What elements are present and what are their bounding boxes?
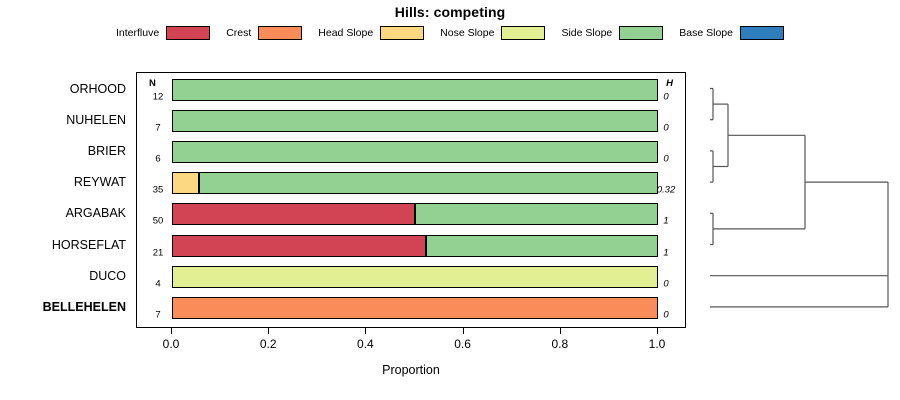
y-axis-label: HORSEFLAT <box>52 238 126 252</box>
x-axis-tick <box>365 328 366 334</box>
legend-swatch <box>619 26 663 40</box>
n-value: 6 <box>147 153 169 164</box>
bar-segment[interactable] <box>172 297 658 319</box>
legend-label: Side Slope <box>561 27 612 39</box>
x-axis: 0.00.20.40.60.81.0 <box>136 328 686 329</box>
x-axis-tick-label: 0.8 <box>551 337 568 351</box>
h-column-header: H <box>666 78 673 89</box>
legend-item[interactable]: Base Slope <box>679 26 784 40</box>
bar-segment[interactable] <box>172 203 415 225</box>
legend-swatch <box>740 26 784 40</box>
n-value: 21 <box>147 247 169 258</box>
n-value: 35 <box>147 185 169 196</box>
legend-item[interactable]: Side Slope <box>561 26 663 40</box>
bar-segment[interactable] <box>172 79 658 101</box>
legend-label: Crest <box>226 27 251 39</box>
n-value: 7 <box>147 309 169 320</box>
stacked-bar <box>172 172 658 194</box>
y-axis-label: REYWAT <box>74 175 126 189</box>
legend-item[interactable]: Crest <box>226 26 302 40</box>
legend-item[interactable]: Nose Slope <box>440 26 545 40</box>
bar-segment[interactable] <box>172 141 658 163</box>
bar-segment[interactable] <box>172 110 658 132</box>
x-axis-tick <box>268 328 269 334</box>
bar-segment[interactable] <box>172 172 199 194</box>
y-axis-label: BRIER <box>88 144 126 158</box>
legend-swatch <box>501 26 545 40</box>
legend-item[interactable]: Head Slope <box>318 26 424 40</box>
stacked-bar <box>172 110 658 132</box>
n-column-header: N <box>149 78 156 89</box>
legend: InterfluveCrestHead SlopeNose SlopeSide … <box>0 26 900 40</box>
legend-label: Interfluve <box>116 27 159 39</box>
stacked-bar <box>172 297 658 319</box>
bar-segment[interactable] <box>415 203 658 225</box>
page-title: Hills: competing <box>0 4 900 20</box>
x-axis-title: Proportion <box>136 363 686 377</box>
x-axis-tick-label: 0.4 <box>357 337 374 351</box>
plot-panel: N H 1207060350.325012114070 <box>136 72 686 328</box>
stacked-bar <box>172 79 658 101</box>
n-value: 12 <box>147 91 169 102</box>
legend-swatch <box>380 26 424 40</box>
y-axis-label: ORHOOD <box>70 82 126 96</box>
legend-swatch <box>258 26 302 40</box>
dendrogram-svg <box>688 72 898 328</box>
bar-segment[interactable] <box>426 235 658 257</box>
x-axis-tick <box>657 328 658 334</box>
x-axis-tick-label: 0.6 <box>454 337 471 351</box>
y-axis-label: ARGABAK <box>66 206 126 220</box>
legend-label: Nose Slope <box>440 27 494 39</box>
y-axis-label: BELLEHELEN <box>43 300 126 314</box>
bar-segment[interactable] <box>172 235 426 257</box>
bar-segment[interactable] <box>172 266 658 288</box>
x-axis-tick <box>463 328 464 334</box>
y-axis-label: NUHELEN <box>66 113 126 127</box>
legend-label: Base Slope <box>679 27 733 39</box>
x-axis-tick-label: 0.2 <box>260 337 277 351</box>
legend-swatch <box>166 26 210 40</box>
stacked-bar <box>172 141 658 163</box>
legend-label: Head Slope <box>318 27 373 39</box>
n-value: 7 <box>147 122 169 133</box>
stacked-bar <box>172 266 658 288</box>
n-value: 50 <box>147 216 169 227</box>
dendrogram <box>688 72 898 328</box>
x-axis-tick-label: 1.0 <box>649 337 666 351</box>
x-axis-tick <box>171 328 172 334</box>
chart-root: Hills: competing InterfluveCrestHead Slo… <box>0 0 900 400</box>
stacked-bar <box>172 235 658 257</box>
bar-segment[interactable] <box>199 172 658 194</box>
x-axis-tick <box>560 328 561 334</box>
n-value: 4 <box>147 278 169 289</box>
x-axis-tick-label: 0.0 <box>163 337 180 351</box>
stacked-bar <box>172 203 658 225</box>
y-axis-label: DUCO <box>89 269 126 283</box>
legend-item[interactable]: Interfluve <box>116 26 210 40</box>
